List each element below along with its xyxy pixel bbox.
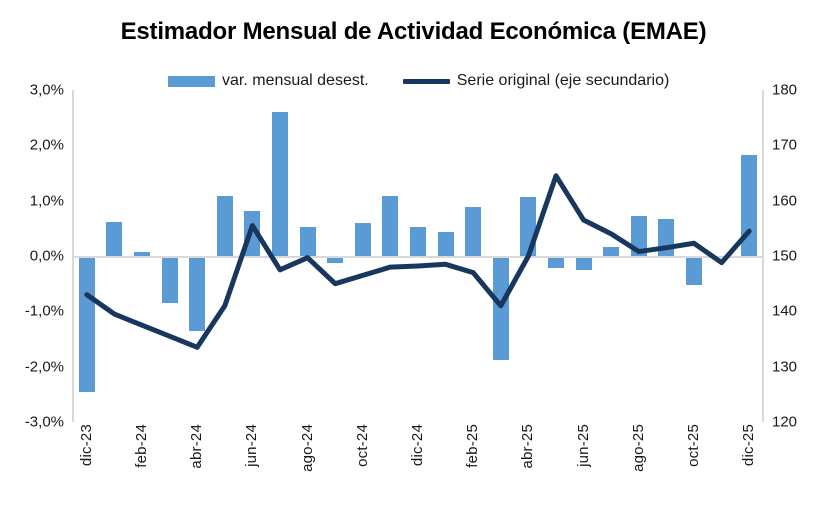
x-axis-tick: dic-23 bbox=[78, 424, 95, 466]
left-axis: 3,0%2,0%1,0%0,0%-1,0%-2,0%-3,0% bbox=[0, 90, 64, 422]
line-swatch-icon bbox=[403, 79, 450, 84]
line-series bbox=[73, 90, 763, 422]
right-axis-tick: 120 bbox=[772, 414, 822, 431]
right-axis-tick: 130 bbox=[772, 358, 822, 375]
legend-label-bars: var. mensual desest. bbox=[222, 72, 369, 90]
x-axis-tick: oct-25 bbox=[685, 424, 702, 467]
right-axis-tick: 140 bbox=[772, 303, 822, 320]
left-axis-tick: -3,0% bbox=[8, 414, 64, 431]
right-axis-tick: 170 bbox=[772, 137, 822, 154]
line-path[interactable] bbox=[87, 176, 749, 348]
left-axis-tick: 0,0% bbox=[8, 248, 64, 265]
chart-container: Estimador Mensual de Actividad Económica… bbox=[0, 0, 827, 519]
plot-area bbox=[73, 90, 763, 422]
right-axis-tick: 180 bbox=[772, 82, 822, 99]
x-axis-tick: feb-25 bbox=[464, 424, 481, 468]
bar-swatch-icon bbox=[168, 76, 215, 87]
x-axis-tick: dic-24 bbox=[409, 424, 426, 466]
left-axis-tick: -2,0% bbox=[8, 358, 64, 375]
chart-legend: var. mensual desest. Serie original (eje… bbox=[168, 72, 669, 90]
page-title: Estimador Mensual de Actividad Económica… bbox=[0, 18, 827, 46]
x-axis-tick: oct-24 bbox=[354, 424, 371, 467]
left-axis-tick: 2,0% bbox=[8, 137, 64, 154]
x-axis-tick: feb-24 bbox=[133, 424, 150, 468]
left-axis-tick: 1,0% bbox=[8, 192, 64, 209]
x-axis-labels: dic-23feb-24abr-24jun-24ago-24oct-24dic-… bbox=[73, 424, 763, 519]
x-axis-tick: ago-24 bbox=[299, 424, 316, 472]
right-axis-tick: 160 bbox=[772, 192, 822, 209]
legend-item-bars[interactable]: var. mensual desest. bbox=[168, 72, 369, 90]
left-axis-tick: 3,0% bbox=[8, 82, 64, 99]
right-axis-tick: 150 bbox=[772, 248, 822, 265]
legend-label-line: Serie original (eje secundario) bbox=[457, 72, 670, 90]
x-axis-tick: jun-25 bbox=[575, 424, 592, 467]
left-axis-tick: -1,0% bbox=[8, 303, 64, 320]
x-axis-tick: ago-25 bbox=[630, 424, 647, 472]
x-axis-tick: jun-24 bbox=[243, 424, 260, 467]
legend-item-line[interactable]: Serie original (eje secundario) bbox=[403, 72, 670, 90]
x-axis-tick: dic-25 bbox=[740, 424, 757, 466]
right-axis: 180170160150140130120 bbox=[772, 90, 827, 422]
x-axis-tick: abr-25 bbox=[519, 424, 536, 469]
x-axis-tick: abr-24 bbox=[188, 424, 205, 469]
